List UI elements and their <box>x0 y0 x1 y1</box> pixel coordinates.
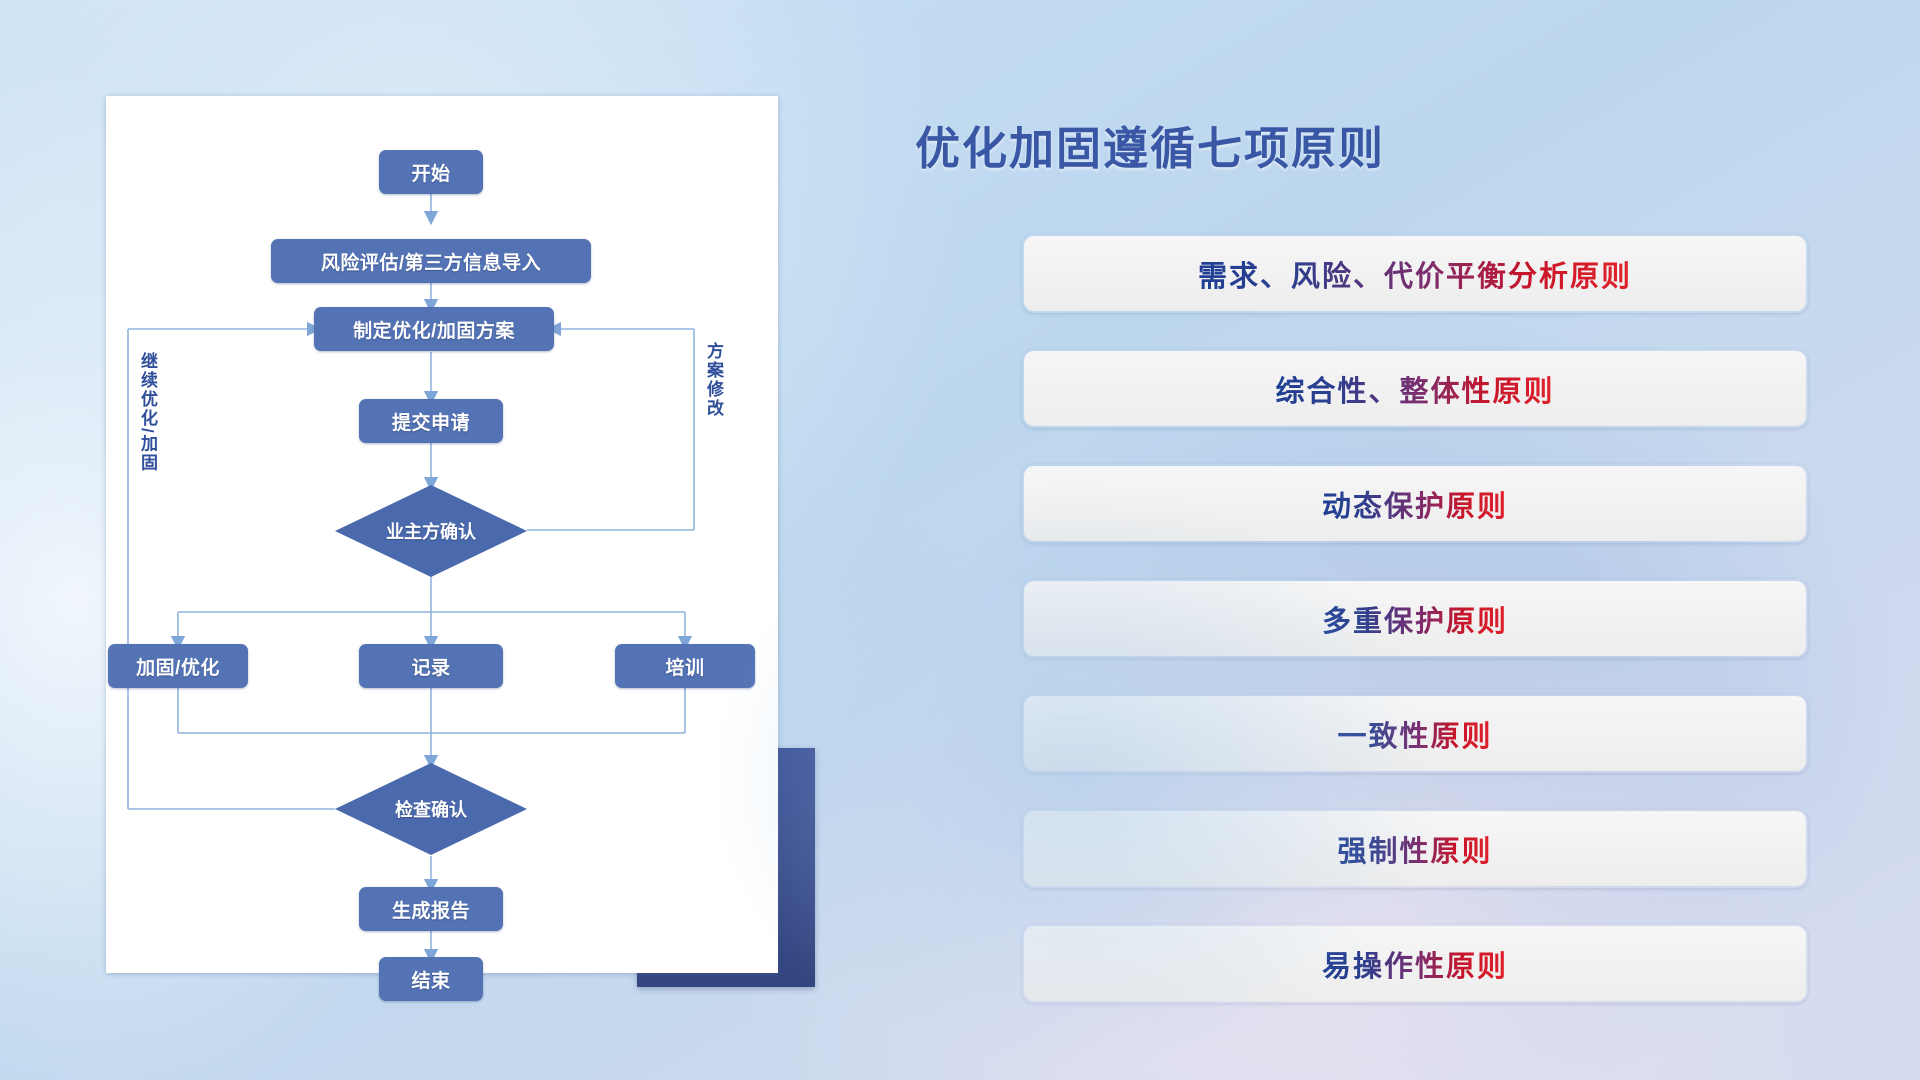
principle-label: 易操作性原则 <box>1322 943 1508 985</box>
flow-node-label: 结束 <box>411 966 450 993</box>
flow-node-end: 结束 <box>379 957 483 1001</box>
flow-node-label: 开始 <box>411 159 450 186</box>
flowchart-card: 开始 风险评估/第三方信息导入 制定优化/加固方案 提交申请 业主方确认 加固/… <box>106 96 778 973</box>
flow-node-label: 业主方确认 <box>386 518 476 544</box>
slide-canvas: 开始 风险评估/第三方信息导入 制定优化/加固方案 提交申请 业主方确认 加固/… <box>0 0 1920 1080</box>
flow-node-start: 开始 <box>379 150 483 194</box>
principle-label: 动态保护原则 <box>1322 483 1508 525</box>
principle-item[interactable]: 一致性原则 <box>1022 694 1808 773</box>
flow-node-reinforce: 加固/优化 <box>108 644 248 688</box>
principle-item[interactable]: 需求、风险、代价平衡分析原则 <box>1022 234 1808 313</box>
flow-node-label: 风险评估/第三方信息导入 <box>321 248 541 275</box>
principle-item[interactable]: 多重保护原则 <box>1022 579 1808 658</box>
flow-node-risk-assessment: 风险评估/第三方信息导入 <box>271 239 591 283</box>
principle-item[interactable]: 综合性、整体性原则 <box>1022 349 1808 428</box>
principle-label: 需求、风险、代价平衡分析原则 <box>1198 253 1632 295</box>
principle-item[interactable]: 强制性原则 <box>1022 809 1808 888</box>
principle-item[interactable]: 动态保护原则 <box>1022 464 1808 543</box>
flow-node-label: 检查确认 <box>395 796 467 822</box>
flow-node-label: 生成报告 <box>392 896 470 923</box>
flow-node-training: 培训 <box>615 644 755 688</box>
flow-node-generate-report: 生成报告 <box>359 887 503 931</box>
flowchart: 开始 风险评估/第三方信息导入 制定优化/加固方案 提交申请 业主方确认 加固/… <box>106 96 778 973</box>
flow-node-label: 培训 <box>665 653 704 680</box>
principle-label: 多重保护原则 <box>1322 598 1508 640</box>
panel-title: 优化加固遵循七项原则 <box>915 112 1385 177</box>
flow-node-submit-application: 提交申请 <box>359 399 503 443</box>
principle-label: 综合性、整体性原则 <box>1275 368 1554 410</box>
principle-label: 一致性原则 <box>1337 713 1492 755</box>
flow-edge-label-right: 方案修改 <box>704 342 722 462</box>
principles-list: 需求、风险、代价平衡分析原则 综合性、整体性原则 动态保护原则 多重保护原则 一… <box>1022 234 1808 1039</box>
flow-node-label: 制定优化/加固方案 <box>353 316 515 343</box>
flow-node-record: 记录 <box>359 644 503 688</box>
flow-node-label: 记录 <box>411 653 450 680</box>
principle-label: 强制性原则 <box>1337 828 1492 870</box>
flow-node-label: 加固/优化 <box>136 653 220 680</box>
flow-node-plan: 制定优化/加固方案 <box>314 307 554 351</box>
principle-item[interactable]: 易操作性原则 <box>1022 924 1808 1003</box>
flow-node-label: 提交申请 <box>392 408 470 435</box>
flow-edge-label-left: 继续优化/加固 <box>138 352 156 512</box>
